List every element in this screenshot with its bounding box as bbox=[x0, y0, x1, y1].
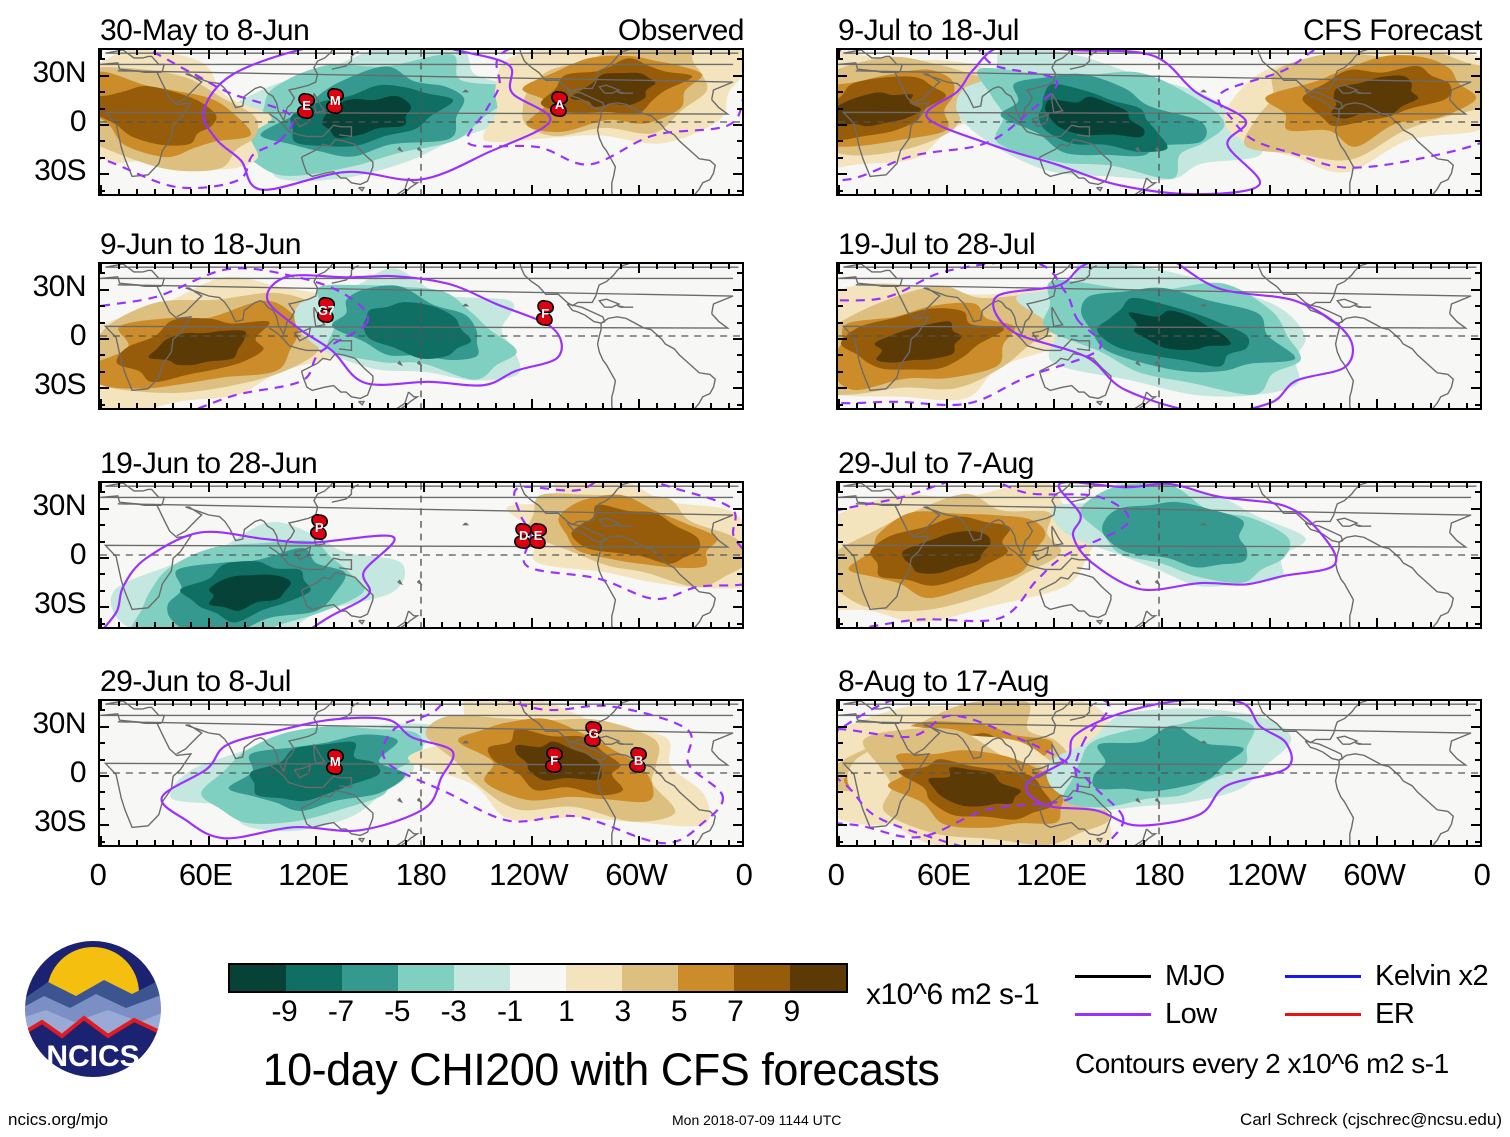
axis-tick bbox=[190, 483, 192, 488]
axis-tick bbox=[737, 524, 742, 526]
storm-marker-p[interactable]: P bbox=[306, 512, 332, 542]
axis-tick bbox=[100, 491, 105, 493]
axis-tick bbox=[928, 701, 930, 706]
axis-tick bbox=[1179, 264, 1181, 269]
axis-tick bbox=[531, 618, 533, 627]
axis-tick bbox=[602, 840, 604, 845]
axis-tick bbox=[1471, 387, 1480, 389]
axis-tick bbox=[674, 840, 676, 845]
axis-tick bbox=[1233, 189, 1235, 194]
axis-tick bbox=[387, 622, 389, 627]
axis-tick bbox=[737, 108, 742, 110]
axis-tick bbox=[100, 623, 105, 625]
axis-tick bbox=[602, 622, 604, 627]
axis-tick bbox=[1089, 189, 1091, 194]
contour-interval-note: Contours every 2 x10^6 m2 s-1 bbox=[1075, 1048, 1449, 1080]
axis-tick bbox=[728, 403, 730, 408]
axis-tick bbox=[1394, 840, 1396, 845]
colorbar-swatch-1 bbox=[286, 965, 342, 991]
colorbar-tick-label: 7 bbox=[727, 995, 743, 1029]
colorbar-ticks: -9-7-5-3-113579 bbox=[228, 995, 848, 1029]
colorbar-tick-label: -7 bbox=[328, 995, 354, 1029]
axis-tick bbox=[638, 483, 640, 492]
axis-tick bbox=[100, 305, 105, 307]
footer-website[interactable]: ncics.org/mjo bbox=[8, 1110, 108, 1130]
axis-tick bbox=[262, 622, 264, 627]
axis-tick bbox=[1017, 840, 1019, 845]
axis-tick bbox=[172, 622, 174, 627]
axis-tick bbox=[226, 622, 228, 627]
map-frame[interactable]: MFGB bbox=[98, 699, 744, 847]
axis-tick bbox=[1412, 840, 1414, 845]
axis-tick bbox=[405, 403, 407, 408]
colorbar-swatch-7 bbox=[622, 965, 678, 991]
axis-tick bbox=[838, 841, 843, 843]
axis-tick bbox=[737, 742, 742, 744]
map-panel-4: 29-Jun to 8-Jul30N030SMFGB060E120E180120… bbox=[98, 699, 744, 847]
axis-tick bbox=[315, 50, 317, 59]
axis-tick bbox=[136, 701, 138, 706]
storm-marker-m[interactable]: M bbox=[322, 747, 348, 777]
storm-marker-e[interactable]: E bbox=[525, 521, 551, 551]
axis-tick bbox=[585, 189, 587, 194]
axis-tick bbox=[208, 618, 210, 627]
axis-tick bbox=[441, 840, 443, 845]
axis-tick bbox=[737, 322, 742, 324]
axis-tick bbox=[459, 483, 461, 488]
panel-title: 29-Jul to 7-Aug bbox=[838, 447, 1034, 481]
storm-marker-m[interactable]: M bbox=[322, 86, 348, 116]
axis-tick bbox=[477, 701, 479, 706]
axis-tick bbox=[1143, 840, 1145, 845]
axis-tick bbox=[1475, 841, 1480, 843]
axis-tick bbox=[100, 173, 109, 175]
axis-tick bbox=[838, 726, 847, 728]
axis-tick bbox=[297, 483, 299, 488]
axis-tick bbox=[226, 264, 228, 269]
axis-tick bbox=[733, 557, 742, 559]
axis-tick bbox=[1305, 50, 1307, 55]
axis-tick bbox=[1161, 50, 1163, 59]
axis-tick bbox=[1376, 399, 1378, 408]
axis-tick bbox=[1358, 403, 1360, 408]
axis-tick bbox=[1269, 483, 1271, 492]
axis-tick bbox=[928, 840, 930, 845]
storm-marker-f[interactable]: F bbox=[532, 298, 558, 328]
axis-tick bbox=[1305, 264, 1307, 269]
axis-tick bbox=[1448, 483, 1450, 488]
storm-marker-a[interactable]: A bbox=[546, 89, 572, 119]
axis-tick bbox=[1000, 403, 1002, 408]
axis-tick bbox=[1358, 622, 1360, 627]
axis-tick bbox=[315, 618, 317, 627]
axis-tick bbox=[1394, 622, 1396, 627]
axis-tick bbox=[1466, 403, 1468, 408]
axis-tick bbox=[1475, 58, 1480, 60]
axis-tick bbox=[513, 840, 515, 845]
axis-tick bbox=[1376, 701, 1378, 710]
axis-tick bbox=[1017, 264, 1019, 269]
map-frame[interactable]: EMA bbox=[98, 48, 744, 196]
axis-tick bbox=[136, 50, 138, 55]
axis-tick bbox=[692, 264, 694, 269]
axis-tick bbox=[674, 483, 676, 488]
map-frame[interactable] bbox=[836, 48, 1482, 196]
colorbar-tick-label: 1 bbox=[558, 995, 574, 1029]
axis-tick bbox=[946, 618, 948, 627]
axis-tick bbox=[279, 264, 281, 269]
axis-tick bbox=[100, 338, 109, 340]
axis-tick bbox=[1358, 264, 1360, 269]
axis-tick bbox=[710, 403, 712, 408]
axis-tick bbox=[423, 836, 425, 845]
axis-tick bbox=[892, 50, 894, 55]
axis-tick bbox=[1466, 264, 1468, 269]
axis-tick bbox=[1269, 50, 1271, 59]
axis-tick bbox=[441, 50, 443, 55]
axis-tick bbox=[1323, 622, 1325, 627]
axis-tick bbox=[118, 50, 120, 55]
axis-tick bbox=[1358, 189, 1360, 194]
storm-marker-g7[interactable]: G7 bbox=[313, 295, 339, 325]
axis-tick bbox=[656, 701, 658, 706]
axis-tick bbox=[1471, 557, 1480, 559]
map-frame[interactable]: G7F bbox=[98, 262, 744, 410]
y-axis-label: 30S bbox=[34, 587, 86, 621]
axis-tick bbox=[1071, 840, 1073, 845]
axis-tick bbox=[838, 140, 843, 142]
axis-tick bbox=[982, 483, 984, 488]
axis-tick bbox=[692, 483, 694, 488]
axis-tick bbox=[1053, 399, 1055, 408]
axis-tick bbox=[423, 185, 425, 194]
axis-tick bbox=[100, 140, 105, 142]
axis-tick bbox=[737, 590, 742, 592]
axis-tick bbox=[892, 840, 894, 845]
axis-tick bbox=[1107, 189, 1109, 194]
axis-tick bbox=[674, 701, 676, 706]
axis-tick bbox=[656, 840, 658, 845]
axis-tick bbox=[118, 403, 120, 408]
axis-tick bbox=[495, 403, 497, 408]
axis-tick bbox=[1071, 189, 1073, 194]
axis-tick bbox=[733, 824, 742, 826]
axis-tick bbox=[118, 701, 120, 706]
axis-tick bbox=[1251, 50, 1253, 55]
axis-tick bbox=[1035, 701, 1037, 706]
axis-tick bbox=[674, 264, 676, 269]
axis-tick bbox=[1215, 840, 1217, 845]
axis-tick bbox=[892, 622, 894, 627]
axis-tick bbox=[567, 622, 569, 627]
axis-tick bbox=[567, 264, 569, 269]
colorbar-swatch-6 bbox=[566, 965, 622, 991]
axis-tick bbox=[1475, 759, 1480, 761]
axis-tick bbox=[1475, 157, 1480, 159]
axis-tick bbox=[1215, 622, 1217, 627]
axis-tick bbox=[405, 189, 407, 194]
axis-tick bbox=[1089, 50, 1091, 55]
axis-tick bbox=[1017, 483, 1019, 488]
axis-tick bbox=[733, 338, 742, 340]
axis-tick bbox=[1125, 189, 1127, 194]
axis-tick bbox=[838, 91, 843, 93]
axis-tick bbox=[1376, 836, 1378, 845]
storm-marker-b[interactable]: B bbox=[625, 745, 651, 775]
axis-tick bbox=[1071, 701, 1073, 706]
axis-tick bbox=[1466, 483, 1468, 488]
axis-tick bbox=[928, 622, 930, 627]
axis-tick bbox=[459, 622, 461, 627]
axis-tick bbox=[459, 403, 461, 408]
axis-tick bbox=[1017, 622, 1019, 627]
axis-tick bbox=[154, 189, 156, 194]
axis-tick bbox=[1358, 701, 1360, 706]
axis-tick bbox=[1179, 189, 1181, 194]
map-panel-5: 9-Jul to 18-JulCFS Forecast bbox=[836, 48, 1482, 196]
axis-tick bbox=[1053, 264, 1055, 273]
axis-tick bbox=[892, 403, 894, 408]
axis-tick bbox=[279, 189, 281, 194]
map-frame[interactable] bbox=[836, 481, 1482, 629]
axis-tick bbox=[1412, 189, 1414, 194]
axis-tick bbox=[1287, 403, 1289, 408]
axis-tick bbox=[1287, 189, 1289, 194]
axis-tick bbox=[531, 483, 533, 492]
axis-tick bbox=[531, 836, 533, 845]
axis-tick bbox=[1430, 701, 1432, 706]
axis-tick bbox=[838, 338, 847, 340]
axis-tick bbox=[733, 173, 742, 175]
axis-tick bbox=[838, 606, 847, 608]
axis-tick bbox=[100, 508, 109, 510]
axis-tick bbox=[1471, 338, 1480, 340]
axis-tick bbox=[1089, 622, 1091, 627]
map-panel-3: 19-Jun to 28-Jun30N030SPDE bbox=[98, 481, 744, 629]
axis-tick bbox=[495, 483, 497, 488]
axis-tick bbox=[585, 403, 587, 408]
axis-tick bbox=[100, 371, 105, 373]
colorbar-swatch-10 bbox=[790, 965, 846, 991]
axis-tick bbox=[1233, 701, 1235, 706]
axis-tick bbox=[1089, 264, 1091, 269]
legend-item-mjo: MJO bbox=[1075, 960, 1225, 993]
axis-tick bbox=[100, 726, 109, 728]
axis-tick bbox=[226, 50, 228, 55]
colorbar-tick-label: 3 bbox=[614, 995, 630, 1029]
axis-tick bbox=[118, 840, 120, 845]
figure-root: 30-May to 8-JunObserved30N030SEMA9-Jun t… bbox=[0, 0, 1510, 1137]
axis-tick bbox=[737, 541, 742, 543]
axis-tick bbox=[1215, 701, 1217, 706]
axis-tick bbox=[513, 189, 515, 194]
axis-tick bbox=[423, 399, 425, 408]
axis-tick bbox=[838, 742, 843, 744]
axis-tick bbox=[1233, 840, 1235, 845]
axis-tick bbox=[964, 840, 966, 845]
axis-tick bbox=[1471, 775, 1480, 777]
axis-tick bbox=[1430, 483, 1432, 488]
axis-tick bbox=[1430, 50, 1432, 55]
panel-title: 8-Aug to 17-Aug bbox=[838, 665, 1049, 699]
storm-marker-g[interactable]: G bbox=[580, 719, 606, 749]
axis-tick bbox=[279, 403, 281, 408]
axis-tick bbox=[190, 264, 192, 269]
axis-tick bbox=[674, 403, 676, 408]
axis-tick bbox=[1251, 701, 1253, 706]
axis-tick bbox=[100, 759, 105, 761]
axis-tick bbox=[154, 264, 156, 269]
axis-tick bbox=[946, 399, 948, 408]
legend-label: MJO bbox=[1165, 960, 1225, 993]
colorbar-tick-label: 9 bbox=[784, 995, 800, 1029]
y-axis-label: 0 bbox=[70, 105, 86, 139]
axis-tick bbox=[838, 759, 843, 761]
axis-tick bbox=[1143, 264, 1145, 269]
axis-tick bbox=[874, 622, 876, 627]
axis-tick bbox=[620, 264, 622, 269]
axis-tick bbox=[737, 91, 742, 93]
axis-tick bbox=[1125, 403, 1127, 408]
axis-tick bbox=[892, 264, 894, 269]
colorbar-tick-label: 5 bbox=[671, 995, 687, 1029]
axis-tick bbox=[244, 403, 246, 408]
axis-tick bbox=[1475, 354, 1480, 356]
axis-tick bbox=[838, 491, 843, 493]
axis-tick bbox=[100, 791, 105, 793]
axis-tick bbox=[100, 808, 105, 810]
axis-tick bbox=[513, 622, 515, 627]
axis-tick bbox=[423, 264, 425, 273]
axis-tick bbox=[1197, 622, 1199, 627]
axis-tick bbox=[737, 157, 742, 159]
axis-tick bbox=[513, 403, 515, 408]
axis-tick bbox=[1161, 483, 1163, 492]
storm-marker-f[interactable]: F bbox=[541, 745, 567, 775]
axis-tick bbox=[1197, 264, 1199, 269]
axis-tick bbox=[856, 50, 858, 55]
axis-tick bbox=[1430, 264, 1432, 269]
y-axis-label: 30S bbox=[34, 368, 86, 402]
axis-tick bbox=[1430, 622, 1432, 627]
axis-tick bbox=[692, 189, 694, 194]
axis-tick bbox=[1305, 840, 1307, 845]
panel-title: 19-Jul to 28-Jul bbox=[838, 228, 1035, 262]
axis-tick bbox=[477, 622, 479, 627]
axis-tick bbox=[333, 622, 335, 627]
x-axis-label: 120E bbox=[278, 857, 348, 893]
map-frame[interactable] bbox=[836, 262, 1482, 410]
axis-tick bbox=[964, 622, 966, 627]
axis-tick bbox=[1197, 403, 1199, 408]
axis-tick bbox=[531, 264, 533, 273]
axis-tick bbox=[1000, 840, 1002, 845]
axis-tick bbox=[369, 483, 371, 488]
axis-tick bbox=[838, 124, 847, 126]
axis-tick bbox=[100, 91, 105, 93]
axis-tick bbox=[946, 264, 948, 273]
axis-tick bbox=[1323, 840, 1325, 845]
axis-tick bbox=[656, 264, 658, 269]
axis-tick bbox=[1017, 50, 1019, 55]
axis-tick bbox=[459, 189, 461, 194]
axis-tick bbox=[190, 50, 192, 55]
storm-marker-e[interactable]: E bbox=[293, 91, 319, 121]
axis-tick bbox=[387, 264, 389, 269]
axis-tick bbox=[1323, 403, 1325, 408]
axis-tick bbox=[315, 836, 317, 845]
axis-tick bbox=[728, 483, 730, 488]
axis-tick bbox=[477, 189, 479, 194]
axis-tick bbox=[100, 775, 109, 777]
axis-tick bbox=[495, 622, 497, 627]
axis-tick bbox=[513, 50, 515, 55]
axis-tick bbox=[333, 264, 335, 269]
axis-tick bbox=[513, 483, 515, 488]
axis-tick bbox=[602, 403, 604, 408]
axis-tick bbox=[737, 808, 742, 810]
axis-tick bbox=[1125, 50, 1127, 55]
axis-tick bbox=[369, 701, 371, 706]
axis-tick bbox=[1475, 190, 1480, 192]
axis-tick bbox=[118, 189, 120, 194]
axis-tick bbox=[1471, 289, 1480, 291]
axis-tick bbox=[208, 50, 210, 59]
ncics-logo: NCICS bbox=[22, 938, 164, 1080]
panel-title: 30-May to 8-Jun bbox=[100, 14, 309, 48]
axis-tick bbox=[441, 403, 443, 408]
axis-tick bbox=[1161, 836, 1163, 845]
axis-tick bbox=[856, 189, 858, 194]
axis-tick bbox=[838, 573, 843, 575]
axis-tick bbox=[1323, 483, 1325, 488]
axis-tick bbox=[964, 50, 966, 55]
axis-tick bbox=[172, 50, 174, 55]
axis-tick bbox=[1471, 173, 1480, 175]
axis-tick bbox=[1471, 606, 1480, 608]
axis-tick bbox=[737, 573, 742, 575]
colorbar: -9-7-5-3-113579 bbox=[228, 963, 848, 1029]
axis-tick bbox=[459, 840, 461, 845]
column-label: Observed bbox=[618, 14, 744, 48]
axis-tick bbox=[387, 483, 389, 488]
axis-tick bbox=[567, 483, 569, 488]
axis-tick bbox=[1340, 189, 1342, 194]
axis-tick bbox=[910, 701, 912, 706]
axis-tick bbox=[733, 289, 742, 291]
axis-tick bbox=[1412, 50, 1414, 55]
map-frame[interactable]: PDE bbox=[98, 481, 744, 629]
map-frame[interactable] bbox=[836, 699, 1482, 847]
line-type-legend: MJOKelvin x2LowER bbox=[1075, 960, 1495, 1036]
axis-tick bbox=[208, 483, 210, 492]
axis-tick bbox=[567, 403, 569, 408]
axis-tick bbox=[208, 264, 210, 273]
x-axis-label: 60W bbox=[605, 857, 667, 893]
axis-tick bbox=[495, 840, 497, 845]
axis-tick bbox=[100, 387, 109, 389]
x-axis-label: 0 bbox=[90, 857, 107, 893]
axis-tick bbox=[1251, 483, 1253, 488]
axis-tick bbox=[946, 701, 948, 710]
axis-tick bbox=[838, 791, 843, 793]
axis-tick bbox=[477, 403, 479, 408]
axis-tick bbox=[226, 483, 228, 488]
axis-tick bbox=[602, 189, 604, 194]
axis-tick bbox=[1107, 840, 1109, 845]
axis-tick bbox=[172, 189, 174, 194]
map-panel-1: 30-May to 8-JunObserved30N030SEMA bbox=[98, 48, 744, 196]
